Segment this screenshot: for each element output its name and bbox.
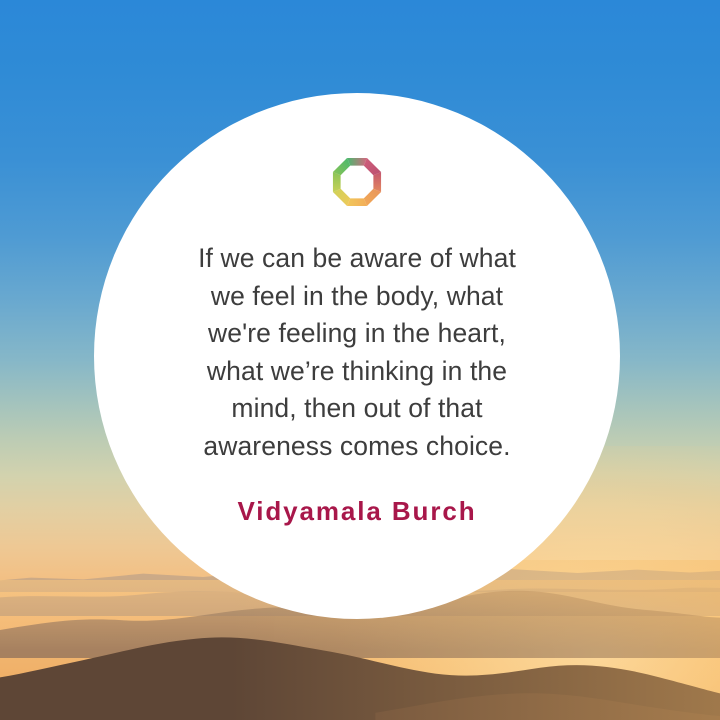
quote-line-2: we feel in the body, what (171, 278, 543, 316)
quote-line-4: what we’re thinking in the (171, 353, 543, 391)
quote-poster: If we can be aware of what we feel in th… (0, 0, 720, 720)
quote-line-5: mind, then out of that (171, 390, 543, 428)
quote-text: If we can be aware of what we feel in th… (171, 240, 543, 465)
octagonal-ring-icon (327, 152, 387, 212)
quote-author: Vidyamala Burch (237, 496, 476, 527)
quote-line-1: If we can be aware of what (171, 240, 543, 278)
quote-circle-card: If we can be aware of what we feel in th… (94, 93, 620, 619)
ridge-layer-foreground-right (0, 666, 720, 720)
quote-line-6: awareness comes choice. (171, 428, 543, 466)
quote-line-3: we're feeling in the heart, (171, 315, 543, 353)
brand-logo (327, 152, 387, 212)
